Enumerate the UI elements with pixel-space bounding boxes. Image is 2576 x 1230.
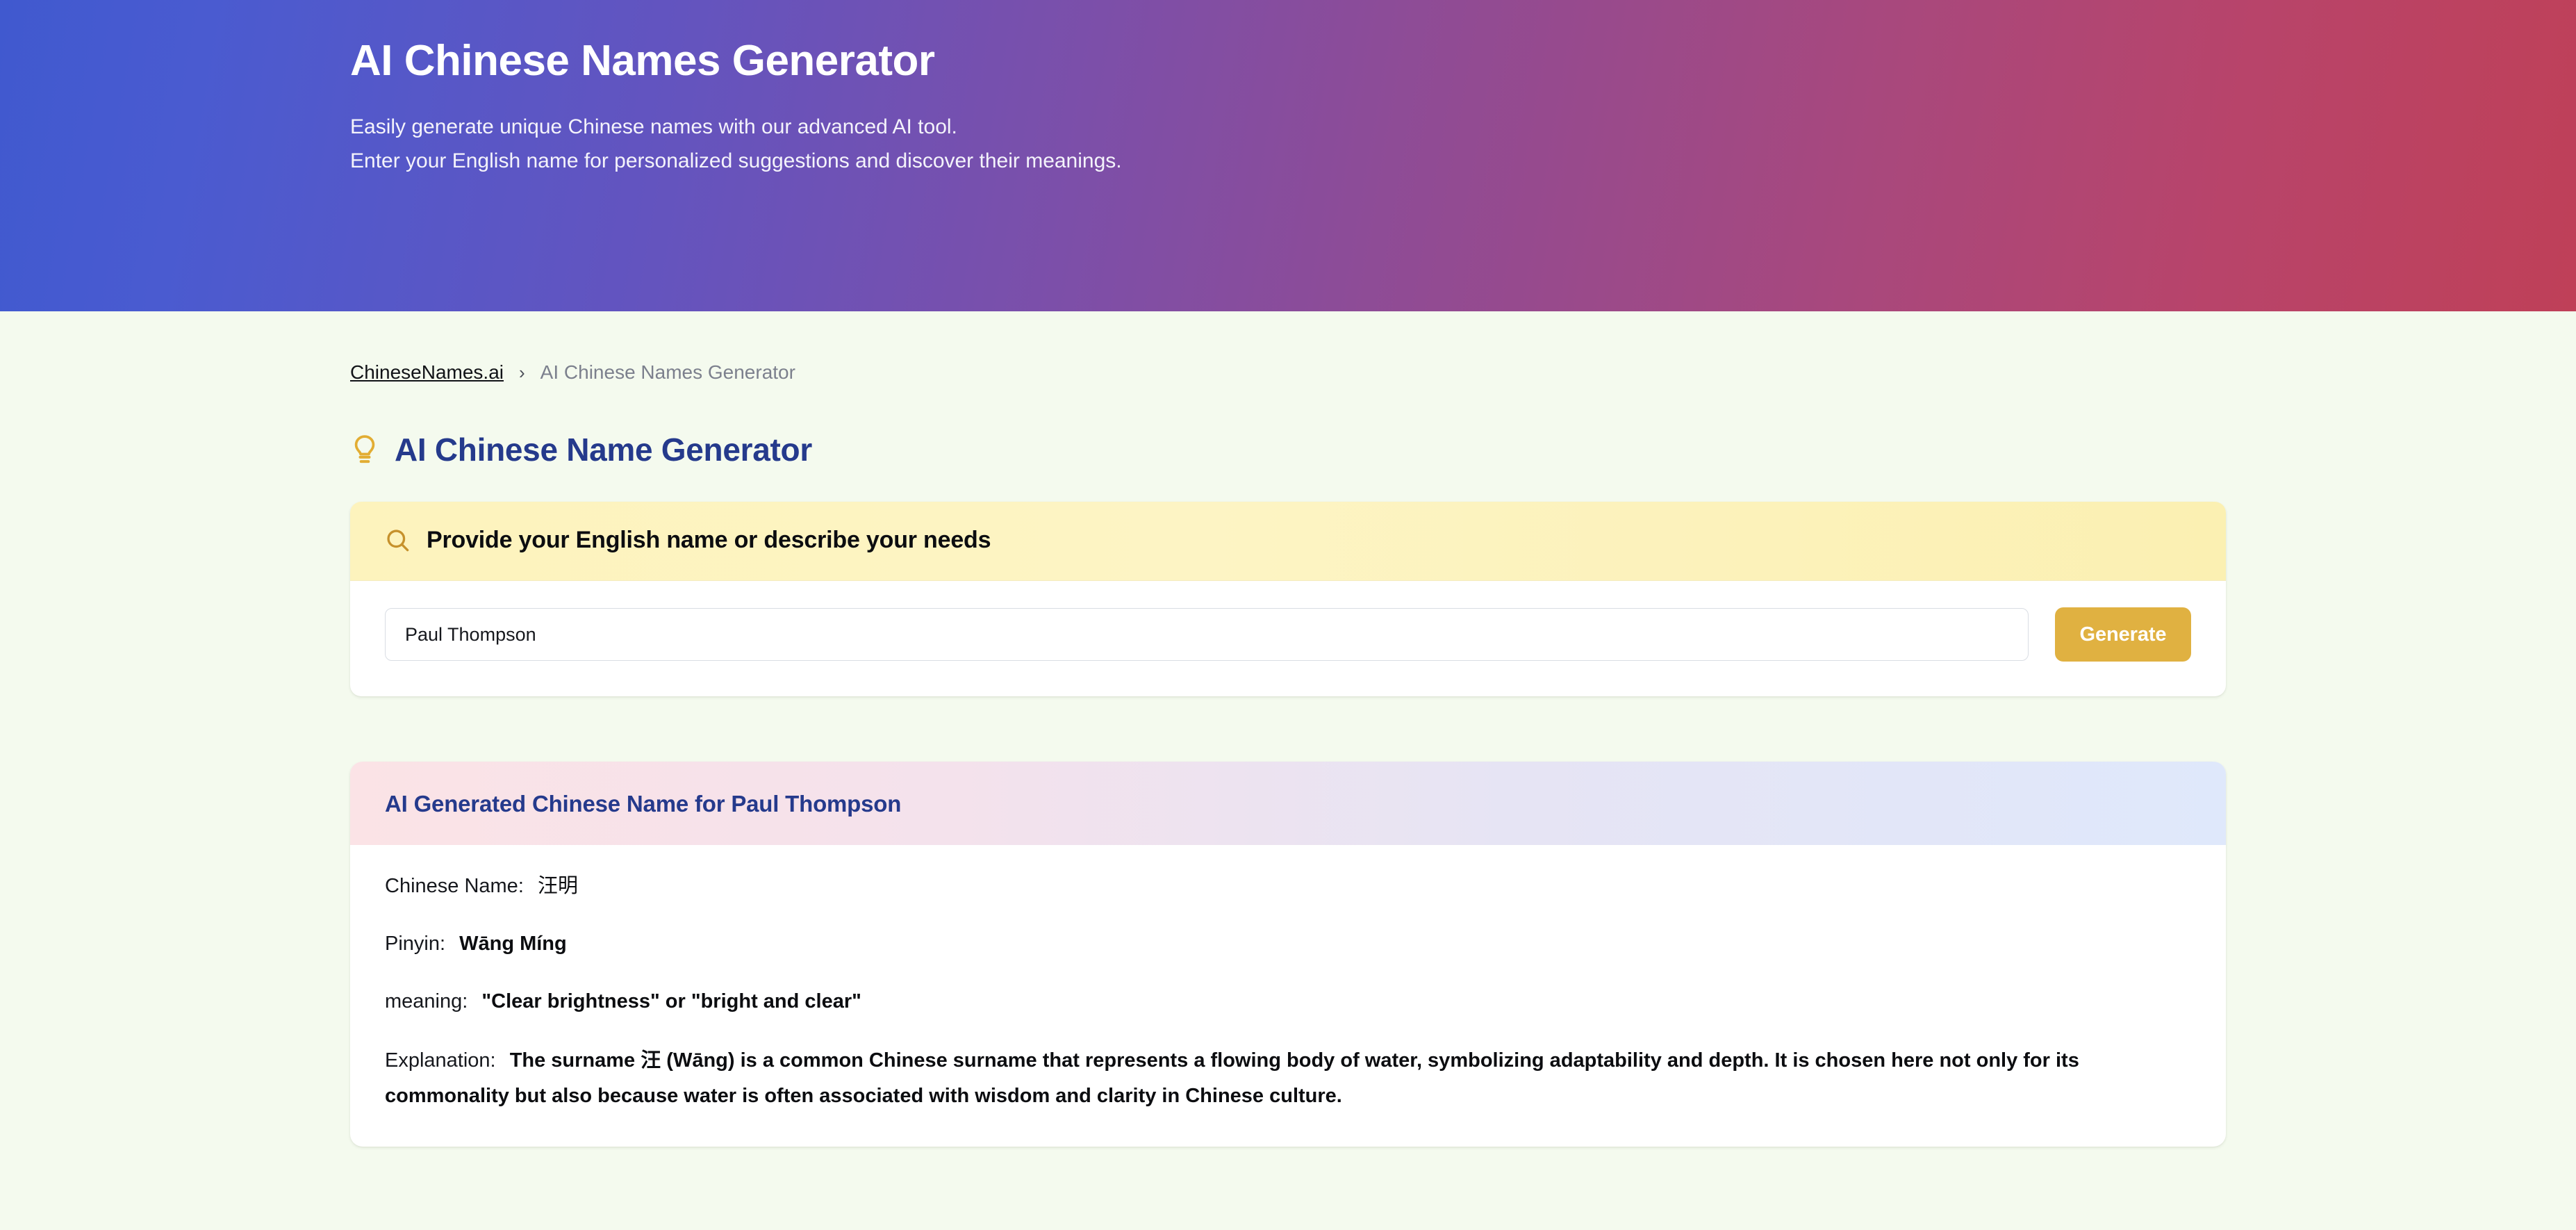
lightbulb-icon <box>350 433 379 466</box>
hero-subtitle-line-2: Enter your English name for personalized… <box>350 145 2576 179</box>
english-name-input[interactable] <box>385 608 2029 661</box>
result-value: Wāng Míng <box>459 933 567 955</box>
search-card-header: Provide your English name or describe yo… <box>350 502 2226 581</box>
result-card-body: Chinese Name: 汪明 Pinyin: Wāng Míng meani… <box>350 845 2226 1147</box>
search-card: Provide your English name or describe yo… <box>350 502 2226 696</box>
page-body: ChineseNames.ai › AI Chinese Names Gener… <box>0 311 2576 1147</box>
result-label: meaning: <box>385 990 468 1012</box>
result-label: Explanation: <box>385 1049 496 1072</box>
hero-content: AI Chinese Names Generator Easily genera… <box>0 0 2576 178</box>
search-card-heading: Provide your English name or describe yo… <box>427 527 991 554</box>
result-value: 汪明 <box>538 875 578 897</box>
result-card: AI Generated Chinese Name for Paul Thomp… <box>350 762 2226 1147</box>
generate-button[interactable]: Generate <box>2055 607 2191 662</box>
result-card-header: AI Generated Chinese Name for Paul Thomp… <box>350 762 2226 845</box>
breadcrumb: ChineseNames.ai › AI Chinese Names Gener… <box>350 311 2226 384</box>
result-row-pinyin: Pinyin: Wāng Míng <box>385 928 2191 960</box>
hero-title: AI Chinese Names Generator <box>350 36 2576 85</box>
hero-banner: AI Chinese Names Generator Easily genera… <box>0 0 2576 311</box>
search-icon <box>385 527 411 554</box>
result-value: The surname 汪 (Wāng) is a common Chinese… <box>385 1049 2079 1107</box>
search-card-body: Generate <box>350 581 2226 696</box>
page-title: AI Chinese Name Generator <box>395 431 812 468</box>
page-title-row: AI Chinese Name Generator <box>350 431 2226 468</box>
result-card-title: AI Generated Chinese Name for Paul Thomp… <box>385 791 2191 817</box>
hero-subtitle-line-1: Easily generate unique Chinese names wit… <box>350 110 2576 145</box>
result-row-chinese-name: Chinese Name: 汪明 <box>385 870 2191 903</box>
result-row-meaning: meaning: "Clear brightness" or "bright a… <box>385 985 2191 1018</box>
result-row-explanation: Explanation: The surname 汪 (Wāng) is a c… <box>385 1043 2191 1114</box>
breadcrumb-current: AI Chinese Names Generator <box>540 361 795 384</box>
chevron-right-icon: › <box>519 363 525 382</box>
result-label: Chinese Name: <box>385 875 524 897</box>
hero-subtitle: Easily generate unique Chinese names wit… <box>350 110 2576 178</box>
result-value: "Clear brightness" or "bright and clear" <box>481 990 861 1012</box>
breadcrumb-home-link[interactable]: ChineseNames.ai <box>350 361 504 384</box>
result-label: Pinyin: <box>385 933 445 955</box>
